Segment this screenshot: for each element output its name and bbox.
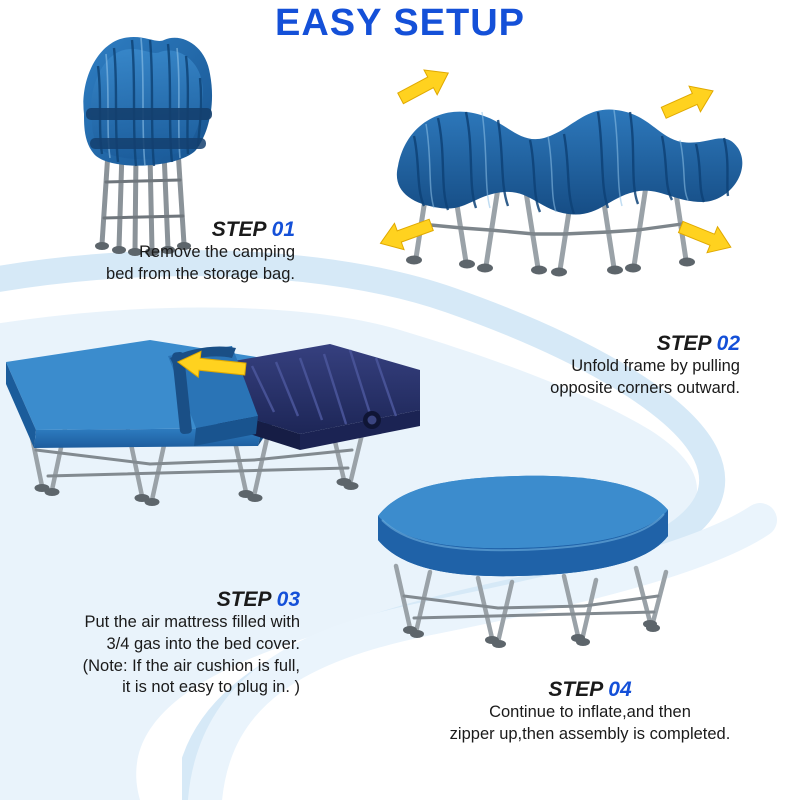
step-03-label: STEP [217, 588, 271, 611]
step-04-heading: STEP 04 [390, 678, 790, 702]
unfolding-frame-image [358, 62, 778, 312]
finished-bed-image [368, 470, 698, 650]
step-02-heading: STEP 02 [460, 332, 740, 356]
step-03-caption: STEP 03 Put the air mattress filled with… [10, 588, 300, 699]
poster-root: EASY SETUP [0, 0, 800, 800]
mattress-insert-image [0, 300, 420, 520]
step-04-text: Continue to inflate,and then zipper up,t… [390, 702, 790, 746]
step-02-label: STEP [657, 332, 711, 355]
step-01-heading: STEP 01 [20, 218, 295, 242]
step-02-number: 02 [717, 332, 740, 355]
step-01-text: Remove the camping bed from the storage … [20, 242, 295, 286]
step-03-heading: STEP 03 [10, 588, 300, 612]
step-04-label: STEP [548, 678, 602, 701]
step-03-number: 03 [277, 588, 300, 611]
step-04-number: 04 [608, 678, 631, 701]
step-04-caption: STEP 04 Continue to inflate,and then zip… [390, 678, 790, 746]
step-01-number: 01 [272, 218, 295, 241]
step-03-text: Put the air mattress filled with 3/4 gas… [10, 612, 300, 699]
step-01-caption: STEP 01 Remove the camping bed from the … [20, 218, 295, 286]
step-02-text: Unfold frame by pulling opposite corners… [460, 356, 740, 400]
step-01-label: STEP [212, 218, 266, 241]
step-02-caption: STEP 02 Unfold frame by pulling opposite… [460, 332, 740, 400]
